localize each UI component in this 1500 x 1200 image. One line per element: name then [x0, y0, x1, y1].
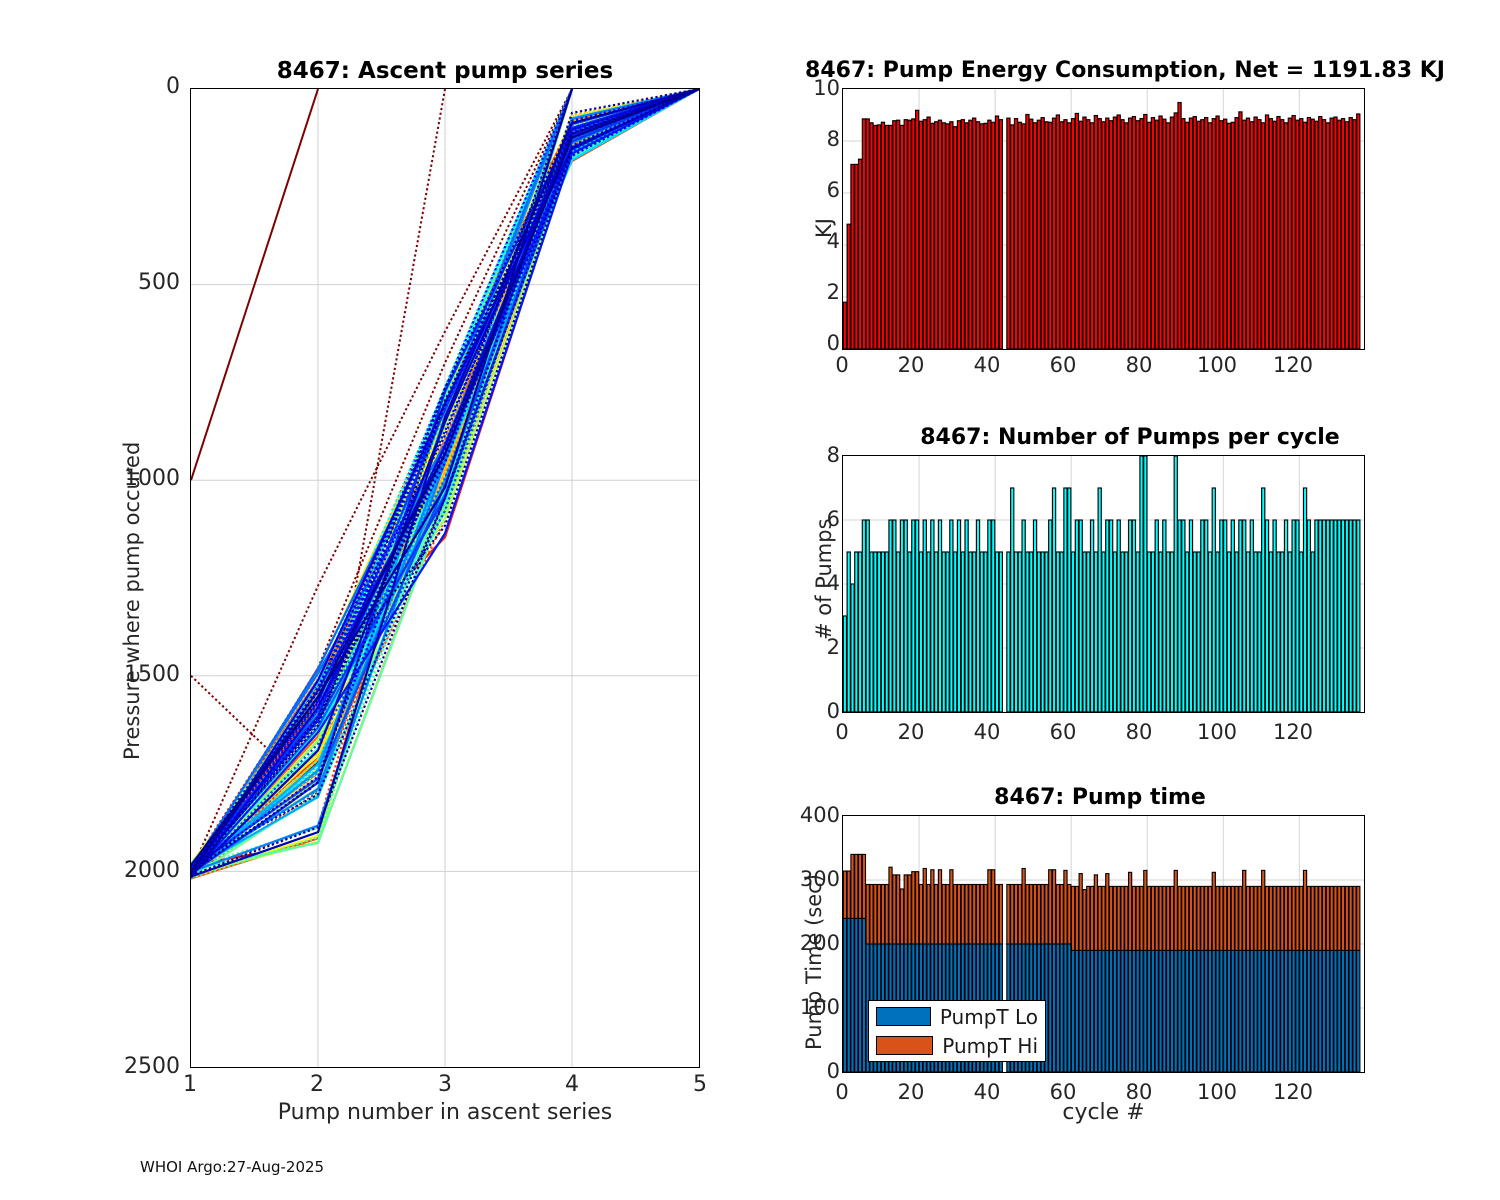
energy-xtick-80: 80 [1119, 353, 1159, 377]
time-xtick-100: 100 [1192, 1080, 1242, 1104]
ytick-0: 0 [110, 74, 180, 99]
energy-xtick-120: 120 [1268, 353, 1318, 377]
energy-xtick-0: 0 [822, 353, 862, 377]
time-xtick-20: 20 [891, 1080, 931, 1104]
time-ytick-100: 100 [760, 995, 840, 1019]
ytick-500: 500 [110, 270, 180, 295]
legend-entry-pumpt-lo[interactable]: PumpT Lo [876, 1005, 1038, 1029]
ascent-pump-series-plot [191, 89, 699, 1067]
number-of-pumps-panel: 8467: Number of Pumps per cycle # of Pum… [740, 400, 1500, 760]
legend-entry-pumpt-hi[interactable]: PumpT Hi [876, 1034, 1038, 1058]
energy-ytick-2: 2 [775, 280, 840, 304]
pump-time-title: 8467: Pump time [870, 785, 1330, 810]
xtick-2: 2 [292, 1072, 342, 1097]
ytick-2000: 2000 [110, 858, 180, 883]
time-xtick-80: 80 [1119, 1080, 1159, 1104]
number-of-pumps-axes [842, 455, 1365, 713]
energy-ytick-10: 10 [775, 76, 840, 100]
time-xtick-0: 0 [822, 1080, 862, 1104]
legend-label-pumpt-lo: PumpT Lo [940, 1005, 1038, 1029]
pump-time-legend[interactable]: PumpT Lo PumpT Hi [868, 1000, 1046, 1062]
xtick-4: 4 [547, 1072, 597, 1097]
energy-ytick-0: 0 [775, 331, 840, 355]
energy-xtick-60: 60 [1043, 353, 1083, 377]
energy-xtick-100: 100 [1192, 353, 1242, 377]
pumps-xtick-0: 0 [822, 720, 862, 744]
xtick-5: 5 [675, 1072, 725, 1097]
pump-energy-panel: 8467: Pump Energy Consumption, Net = 119… [740, 0, 1500, 400]
ascent-pump-series-xlabel: Pump number in ascent series [190, 1100, 700, 1125]
xtick-3: 3 [420, 1072, 470, 1097]
energy-ytick-8: 8 [775, 127, 840, 151]
ascent-pump-series-panel: 8467: Ascent pump series Pressure where … [0, 0, 740, 1200]
pumps-ytick-6: 6 [775, 507, 840, 531]
legend-swatch-pumpt-lo [876, 1007, 931, 1026]
energy-ytick-6: 6 [775, 178, 840, 202]
time-xtick-120: 120 [1268, 1080, 1318, 1104]
ascent-pump-series-title: 8467: Ascent pump series [190, 58, 700, 84]
number-of-pumps-title: 8467: Number of Pumps per cycle [800, 425, 1460, 450]
pumps-xtick-120: 120 [1268, 720, 1318, 744]
pump-time-ylabel: Pump Time (sec) [802, 874, 826, 1050]
pumps-ytick-4: 4 [775, 571, 840, 595]
pumps-xtick-100: 100 [1192, 720, 1242, 744]
pump-energy-axes [842, 88, 1365, 350]
pumps-xtick-60: 60 [1043, 720, 1083, 744]
pumps-ytick-2: 2 [775, 635, 840, 659]
time-ytick-300: 300 [760, 867, 840, 891]
pumps-ytick-8: 8 [775, 443, 840, 467]
pumps-xtick-20: 20 [891, 720, 931, 744]
pumps-xtick-40: 40 [967, 720, 1007, 744]
energy-ytick-4: 4 [775, 229, 840, 253]
pumps-xtick-80: 80 [1119, 720, 1159, 744]
pump-time-panel: 8467: Pump time Pump Time (sec) cycle # … [740, 760, 1500, 1160]
energy-xtick-40: 40 [967, 353, 1007, 377]
legend-swatch-pumpt-hi [876, 1036, 933, 1055]
energy-xtick-20: 20 [891, 353, 931, 377]
ytick-1500: 1500 [110, 662, 180, 687]
time-ytick-200: 200 [760, 931, 840, 955]
ascent-pump-series-axes [190, 88, 700, 1068]
pump-energy-plot [843, 89, 1364, 349]
legend-label-pumpt-hi: PumpT Hi [942, 1034, 1038, 1058]
time-ytick-400: 400 [760, 803, 840, 827]
xtick-1: 1 [165, 1072, 215, 1097]
time-xtick-60: 60 [1043, 1080, 1083, 1104]
number-of-pumps-plot [843, 456, 1364, 712]
figure-footer: WHOI Argo:27-Aug-2025 [140, 1158, 324, 1176]
ytick-1000: 1000 [110, 466, 180, 491]
time-xtick-40: 40 [967, 1080, 1007, 1104]
pump-energy-title: 8467: Pump Energy Consumption, Net = 119… [760, 58, 1490, 83]
